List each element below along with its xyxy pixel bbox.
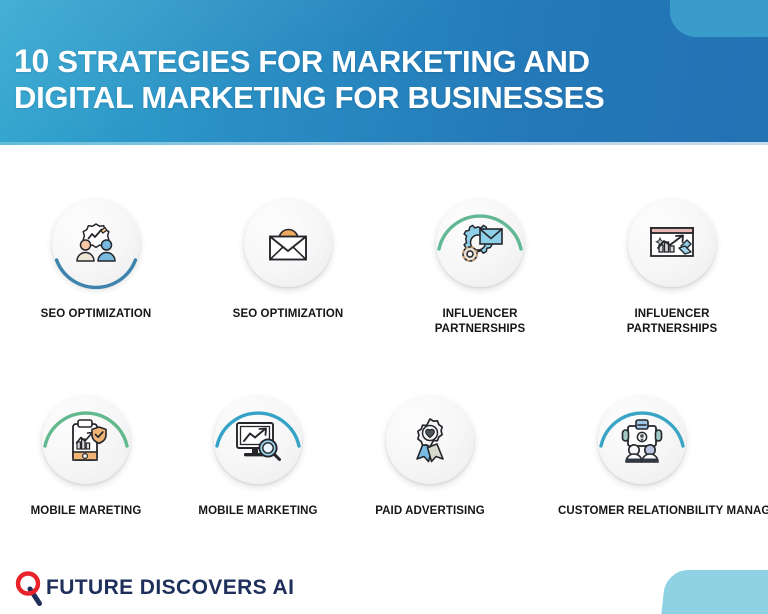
envelope-icon [244, 199, 332, 287]
people-badge-chart-icon [52, 199, 140, 287]
strategy-card-3[interactable]: INFLUENCER PARTNERSHIPS [384, 193, 576, 393]
footer-corner-decoration [660, 570, 768, 614]
icon-circle-2 [238, 193, 338, 293]
magnifier-logo-icon [14, 570, 48, 606]
strategy-grid: SEO OPTIMIZATION S [0, 145, 768, 560]
brand-logo[interactable]: FUTURE DISCOVERS AI [14, 568, 294, 608]
crm-people-clipboard-icon [598, 396, 686, 484]
strategy-card-4[interactable]: INFLUENCER PARTNERSHIPS [576, 193, 768, 393]
infographic-page: 10 STRATEGIES FOR MARKETING AND DIGITAL … [0, 0, 768, 614]
strategy-card-1[interactable]: SEO OPTIMIZATION [0, 193, 192, 393]
strategy-label-7: PAID ADVERTISING [350, 504, 510, 519]
page-title: 10 STRATEGIES FOR MARKETING AND DIGITAL … [14, 43, 654, 116]
icon-circle-7 [380, 390, 480, 490]
header-corner-decoration [670, 0, 768, 37]
icon-circle-3 [430, 193, 530, 293]
strategy-label-1: SEO OPTIMIZATION [16, 307, 176, 322]
award-ribbon-icon [386, 396, 474, 484]
strategy-label-8: CUSTOMER RELATIONBILITY MANAGEMENT [558, 504, 768, 519]
strategy-card-2[interactable]: SEO OPTIMIZATION [192, 193, 384, 393]
icon-circle-1 [46, 193, 146, 293]
title-line-1: 10 STRATEGIES FOR MARKETING AND [14, 43, 654, 80]
strategy-row-1: SEO OPTIMIZATION S [0, 193, 768, 393]
monitor-chart-magnifier-icon [214, 396, 302, 484]
title-line-1-rest: STRATEGIES FOR MARKETING AND [49, 44, 590, 79]
icon-circle-4 [622, 193, 722, 293]
strategy-label-5: MOBILE MARETING [6, 504, 166, 519]
icon-circle-8 [592, 390, 692, 490]
gear-envelope-icon [436, 199, 524, 287]
icon-circle-5 [36, 390, 136, 490]
brand-name: FUTURE DISCOVERS AI [46, 576, 294, 600]
strategy-label-6: MOBILE MARKETING [178, 504, 338, 519]
title-line-2: DIGITAL MARKETING FOR BUSINESSES [14, 80, 654, 116]
mobile-chart-shield-icon [42, 396, 130, 484]
header-banner: 10 STRATEGIES FOR MARKETING AND DIGITAL … [0, 0, 768, 145]
footer: FUTURE DISCOVERS AI [0, 558, 768, 614]
strategy-label-2: SEO OPTIMIZATION [193, 307, 383, 322]
title-number: 10 [14, 43, 49, 79]
icon-circle-6 [208, 390, 308, 490]
strategy-label-4: INFLUENCER PARTNERSHIPS [592, 307, 752, 337]
presentation-chart-arrow-icon [628, 199, 716, 287]
strategy-label-3: INFLUENCER PARTNERSHIPS [400, 307, 560, 337]
